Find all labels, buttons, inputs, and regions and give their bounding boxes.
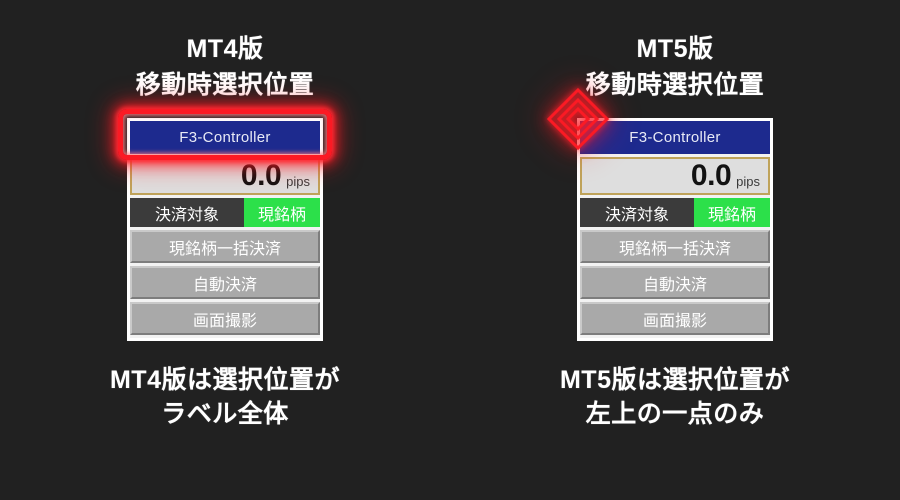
button-screenshot-mt4[interactable]: 画面撮影 [130, 302, 320, 335]
settlement-target-label-mt5: 決済対象 [580, 198, 694, 227]
pips-value-mt4: 0.0 [241, 161, 281, 191]
button-auto-close-mt5[interactable]: 自動決済 [580, 266, 770, 299]
settlement-target-label-mt4: 決済対象 [130, 198, 244, 227]
column-mt4: MT4版 移動時選択位置 F3-Controller 0.0 pips 決済対象… [0, 0, 450, 500]
button-close-all-symbol-mt5[interactable]: 現銘柄一括決済 [580, 230, 770, 263]
panel-titlebar-mt4[interactable]: F3-Controller [130, 121, 320, 154]
caption-mt5-line2: 左上の一点のみ [560, 397, 790, 431]
pips-unit-label-mt4: pips [286, 175, 310, 188]
caption-mt4-line1: MT4版は選択位置が [110, 363, 340, 397]
settlement-target-value-mt4[interactable]: 現銘柄 [244, 198, 320, 227]
panel-wrap-mt4: F3-Controller 0.0 pips 決済対象 現銘柄 現銘柄一括決済 … [127, 118, 323, 341]
f3-controller-panel-mt4: F3-Controller 0.0 pips 決済対象 現銘柄 現銘柄一括決済 … [127, 118, 323, 341]
caption-mt4: MT4版は選択位置が ラベル全体 [110, 363, 340, 431]
pips-display-mt5: 0.0 pips [580, 157, 770, 195]
caption-mt5: MT5版は選択位置が 左上の一点のみ [560, 363, 790, 431]
heading-mt5-line2: 移動時選択位置 [586, 69, 765, 101]
heading-mt4-line1: MT4版 [136, 33, 315, 65]
button-screenshot-mt5[interactable]: 画面撮影 [580, 302, 770, 335]
button-close-all-symbol-mt4[interactable]: 現銘柄一括決済 [130, 230, 320, 263]
pips-display-mt4: 0.0 pips [130, 157, 320, 195]
f3-controller-panel-mt5: F3-Controller 0.0 pips 決済対象 現銘柄 現銘柄一括決済 … [577, 118, 773, 341]
panel-wrap-mt5: F3-Controller 0.0 pips 決済対象 現銘柄 現銘柄一括決済 … [577, 118, 773, 341]
heading-mt5-line1: MT5版 [586, 33, 765, 65]
pips-unit-label-mt5: pips [736, 175, 760, 188]
comparison-stage: MT4版 移動時選択位置 F3-Controller 0.0 pips 決済対象… [0, 0, 900, 500]
settlement-target-row-mt5: 決済対象 現銘柄 [580, 198, 770, 227]
panel-title-label-mt4: F3-Controller [179, 129, 270, 146]
button-auto-close-mt4[interactable]: 自動決済 [130, 266, 320, 299]
panel-title-label-mt5: F3-Controller [629, 129, 720, 146]
pips-value-mt5: 0.0 [691, 161, 731, 191]
caption-mt4-line2: ラベル全体 [110, 397, 340, 431]
heading-mt4-line2: 移動時選択位置 [136, 69, 315, 101]
column-mt5: MT5版 移動時選択位置 F3-Controller 0.0 pips 決済対象… [450, 0, 900, 500]
heading-mt5: MT5版 移動時選択位置 [586, 33, 765, 101]
settlement-target-row-mt4: 決済対象 現銘柄 [130, 198, 320, 227]
caption-mt5-line1: MT5版は選択位置が [560, 363, 790, 397]
panel-titlebar-mt5[interactable]: F3-Controller [580, 121, 770, 154]
settlement-target-value-mt5[interactable]: 現銘柄 [694, 198, 770, 227]
heading-mt4: MT4版 移動時選択位置 [136, 33, 315, 101]
